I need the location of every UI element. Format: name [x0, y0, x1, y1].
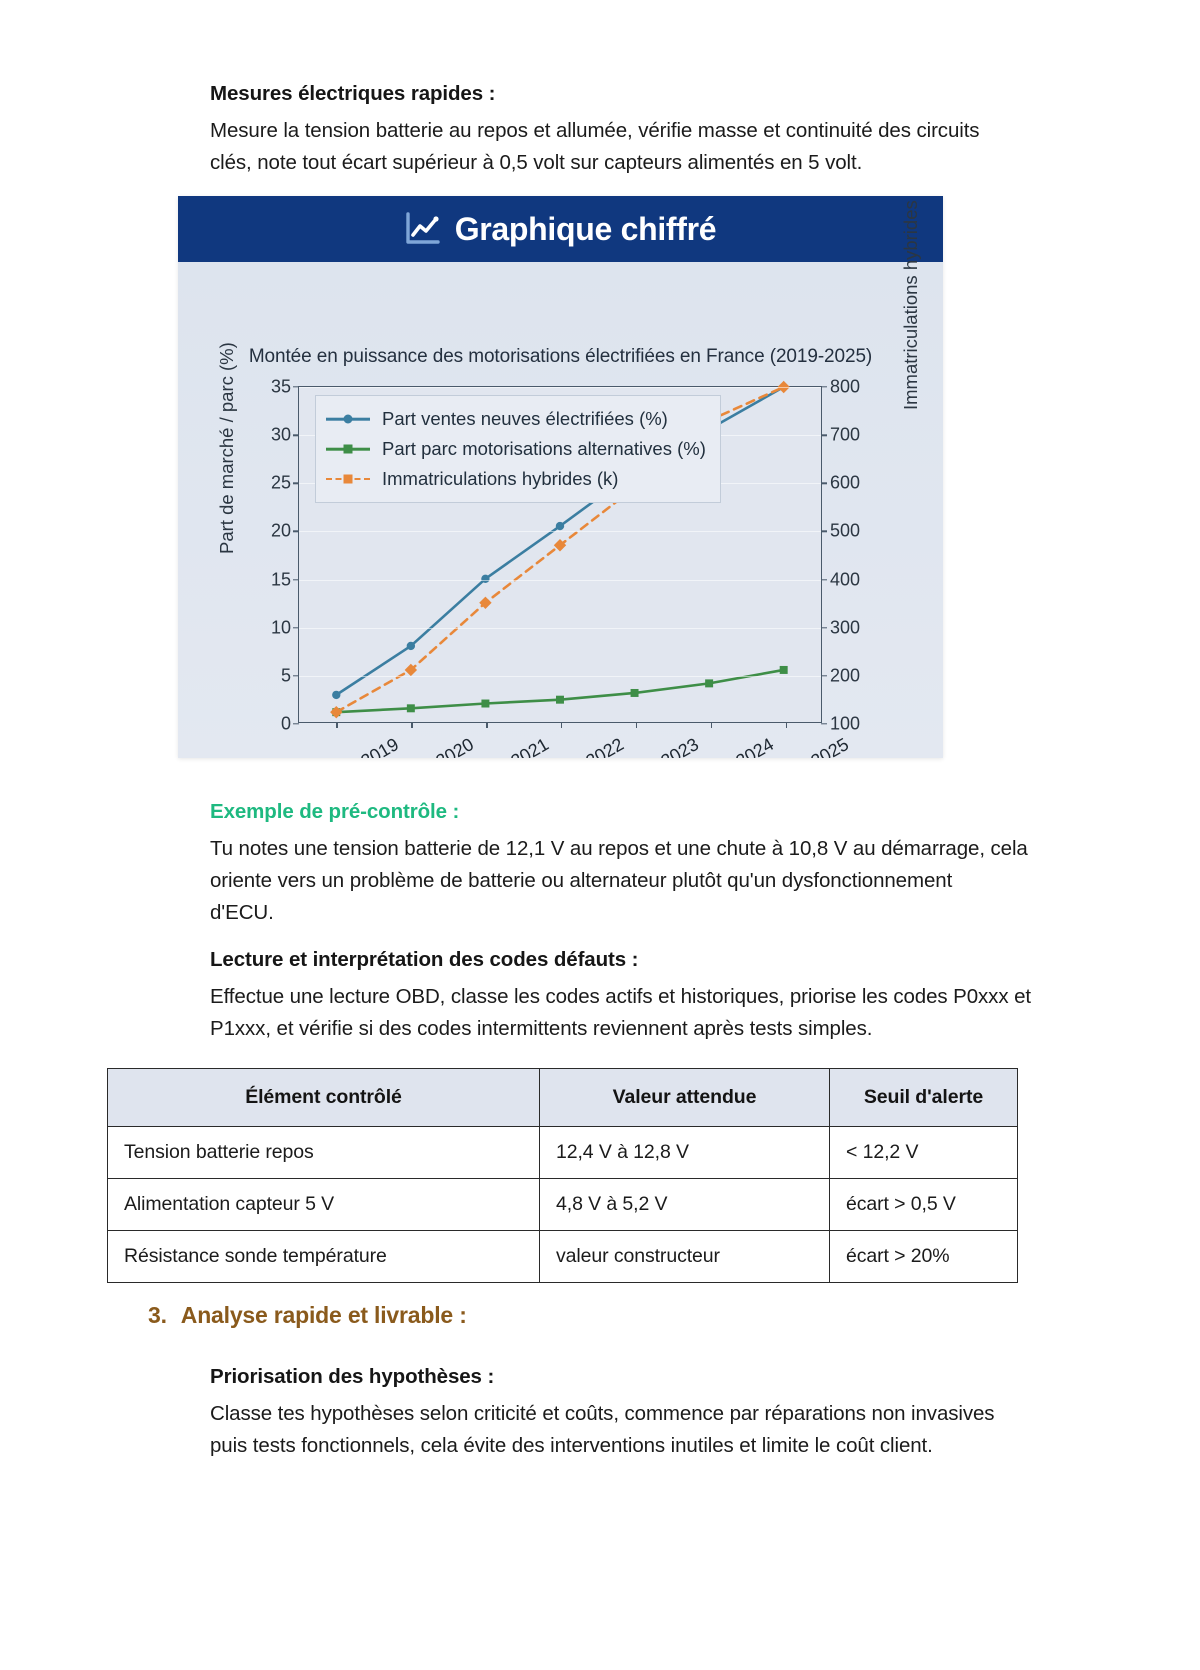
x-tick-label: 2021 [508, 734, 553, 758]
x-tick-label: 2019 [358, 734, 403, 758]
legend-swatch [326, 412, 370, 426]
y-tick-left [293, 483, 299, 484]
table-cell-element: Alimentation capteur 5 V [108, 1179, 540, 1231]
y-tick-label-right: 100 [830, 714, 860, 735]
chart-card-header: Graphique chiffré [178, 196, 943, 262]
chart-gridline [299, 531, 821, 532]
legend-label: Part parc motorisations alternatives (%) [382, 438, 706, 460]
chart-ylabel-right: Immatriculations hybrides (k) [900, 196, 922, 410]
y-tick-label-right: 500 [830, 521, 860, 542]
priorisation-body-line1: Classe tes hypothèses selon criticité et… [210, 1398, 1120, 1430]
electrical-heading: Mesures électriques rapides : [210, 82, 1120, 106]
y-tick-label-right: 700 [830, 425, 860, 446]
x-tick [336, 722, 337, 728]
table-cell-threshold: écart > 20% [830, 1231, 1018, 1283]
table-header-row: Élément contrôlé Valeur attendue Seuil d… [108, 1069, 1018, 1127]
y-tick-right [821, 531, 827, 532]
table-header-threshold: Seuil d'alerte [830, 1069, 1018, 1127]
electrical-body-line2: clés, note tout écart supérieur à 0,5 vo… [210, 147, 1120, 179]
section-precontrole: Exemple de pré-contrôle : Tu notes une t… [210, 800, 1120, 928]
legend-swatch [326, 472, 370, 486]
y-tick-label-right: 800 [830, 377, 860, 398]
y-tick-label-left: 25 [271, 473, 291, 494]
y-tick-right [821, 627, 827, 628]
precontrole-heading: Exemple de pré-contrôle : [210, 800, 1120, 824]
x-tick [636, 722, 637, 728]
section-priorisation: Priorisation des hypothèses : Classe tes… [210, 1365, 1120, 1462]
table-cell-element: Résistance sonde température [108, 1231, 540, 1283]
table-row: Tension batterie repos12,4 V à 12,8 V< 1… [108, 1127, 1018, 1179]
chart-gridline [299, 676, 821, 677]
table-row: Résistance sonde températurevaleur const… [108, 1231, 1018, 1283]
y-tick-right [821, 579, 827, 580]
codes-body-line1: Effectue une lecture OBD, classe les cod… [210, 981, 1130, 1013]
series-marker [631, 689, 639, 697]
series-marker [330, 706, 342, 718]
table-cell-expected: 12,4 V à 12,8 V [540, 1127, 830, 1179]
legend-item[interactable]: Part ventes neuves électrifiées (%) [326, 404, 706, 434]
table-row: Alimentation capteur 5 V4,8 V à 5,2 Véca… [108, 1179, 1018, 1231]
y-tick-label-right: 300 [830, 617, 860, 638]
x-tick-label: 2024 [732, 734, 777, 758]
priorisation-heading: Priorisation des hypothèses : [210, 1365, 1120, 1389]
y-tick-left [293, 675, 299, 676]
x-tick [786, 722, 787, 728]
y-tick-left [293, 723, 299, 724]
chart-gridline [299, 580, 821, 581]
series-marker [556, 696, 564, 704]
y-tick-label-right: 400 [830, 569, 860, 590]
x-tick-label: 2022 [582, 734, 627, 758]
y-tick-left [293, 579, 299, 580]
chart-plot-area: Montée en puissance des motorisations él… [178, 262, 943, 758]
x-tick [486, 722, 487, 728]
table-cell-expected: 4,8 V à 5,2 V [540, 1179, 830, 1231]
legend-label: Immatriculations hybrides (k) [382, 468, 618, 490]
y-tick-right [821, 483, 827, 484]
x-tick [711, 722, 712, 728]
series-marker [556, 522, 564, 530]
chart-ylabel-left: Part de marché / parc (%) [216, 342, 238, 554]
analyse-number: 3. [148, 1302, 167, 1329]
y-tick-left [293, 386, 299, 387]
chart-gridline [299, 628, 821, 629]
table-cell-threshold: < 12,2 V [830, 1127, 1018, 1179]
chart-canvas: Part ventes neuves électrifiées (%)Part … [298, 386, 822, 723]
y-tick-right [821, 434, 827, 435]
y-tick-left [293, 434, 299, 435]
chart-card: Graphique chiffré Montée en puissance de… [178, 196, 943, 758]
table-cell-threshold: écart > 0,5 V [830, 1179, 1018, 1231]
series-marker [479, 597, 491, 609]
y-tick-label-left: 0 [281, 714, 291, 735]
precontrole-body-line3: d'ECU. [210, 897, 1120, 929]
y-tick-label-left: 5 [281, 665, 291, 686]
y-tick-left [293, 531, 299, 532]
codes-body-line2: P1xxx, et vérifie si des codes intermitt… [210, 1013, 1130, 1045]
line-chart-icon [405, 212, 441, 246]
x-tick-label: 2020 [433, 734, 478, 758]
chart-legend: Part ventes neuves électrifiées (%)Part … [315, 395, 721, 503]
precontrole-body-line2: oriente vers un problème de batterie ou … [210, 865, 1120, 897]
y-tick-label-right: 600 [830, 473, 860, 494]
series-marker [332, 691, 340, 699]
y-tick-right [821, 675, 827, 676]
series-marker [780, 666, 788, 674]
legend-label: Part ventes neuves électrifiées (%) [382, 408, 668, 430]
priorisation-body-line2: puis tests fonctionnels, cela évite des … [210, 1430, 1120, 1462]
section-electrical: Mesures électriques rapides : Mesure la … [210, 82, 1120, 179]
table-header-expected: Valeur attendue [540, 1069, 830, 1127]
chart-title: Montée en puissance des motorisations él… [178, 346, 943, 368]
y-tick-label-left: 15 [271, 569, 291, 590]
series-marker [407, 704, 415, 712]
control-table: Élément contrôlé Valeur attendue Seuil d… [107, 1068, 1018, 1283]
y-tick-right [821, 386, 827, 387]
table-cell-expected: valeur constructeur [540, 1231, 830, 1283]
series-marker [481, 700, 489, 708]
legend-item[interactable]: Part parc motorisations alternatives (%) [326, 434, 706, 464]
electrical-body-line1: Mesure la tension batterie au repos et a… [210, 115, 1120, 147]
legend-swatch [326, 442, 370, 456]
control-table-wrapper: Élément contrôlé Valeur attendue Seuil d… [107, 1068, 1018, 1283]
chart-card-title: Graphique chiffré [455, 211, 717, 248]
document-page: Mesures électriques rapides : Mesure la … [0, 0, 1200, 1670]
legend-item[interactable]: Immatriculations hybrides (k) [326, 464, 706, 494]
section-codes: Lecture et interprétation des codes défa… [210, 948, 1130, 1045]
table-header-element: Élément contrôlé [108, 1069, 540, 1127]
chart-gridline [299, 387, 821, 388]
table-cell-element: Tension batterie repos [108, 1127, 540, 1179]
y-tick-label-left: 20 [271, 521, 291, 542]
y-tick-left [293, 627, 299, 628]
x-tick [411, 722, 412, 728]
y-tick-label-left: 10 [271, 617, 291, 638]
x-tick-label: 2023 [657, 734, 702, 758]
y-tick-right [821, 723, 827, 724]
analyse-title: Analyse rapide et livrable : [181, 1302, 467, 1329]
y-tick-label-right: 200 [830, 665, 860, 686]
series-marker [407, 642, 415, 650]
y-tick-label-left: 35 [271, 377, 291, 398]
x-tick-label: 2025 [807, 734, 852, 758]
y-tick-label-left: 30 [271, 425, 291, 446]
precontrole-body-line1: Tu notes une tension batterie de 12,1 V … [210, 833, 1120, 865]
x-tick [561, 722, 562, 728]
series-marker [705, 679, 713, 687]
codes-heading: Lecture et interprétation des codes défa… [210, 948, 1130, 972]
section-analyse-heading: 3. Analyse rapide et livrable : [148, 1302, 467, 1329]
